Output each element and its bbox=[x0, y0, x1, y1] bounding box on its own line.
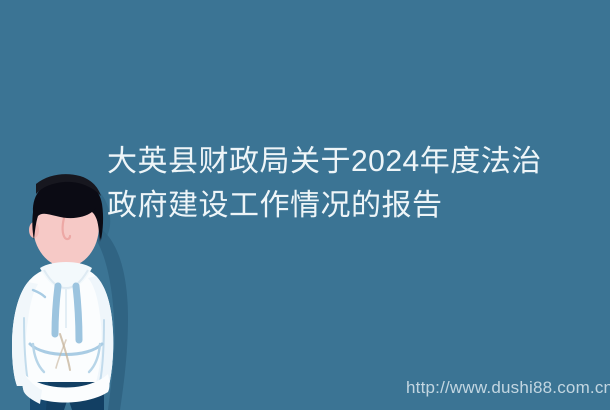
watermark-url: http://www.dushi88.com.cn bbox=[406, 378, 610, 398]
page-title: 大英县财政局关于2024年度法治政府建设工作情况的报告 bbox=[107, 140, 557, 228]
article-thumbnail-banner: 大英县财政局关于2024年度法治政府建设工作情况的报告 http://www.d… bbox=[0, 0, 610, 410]
